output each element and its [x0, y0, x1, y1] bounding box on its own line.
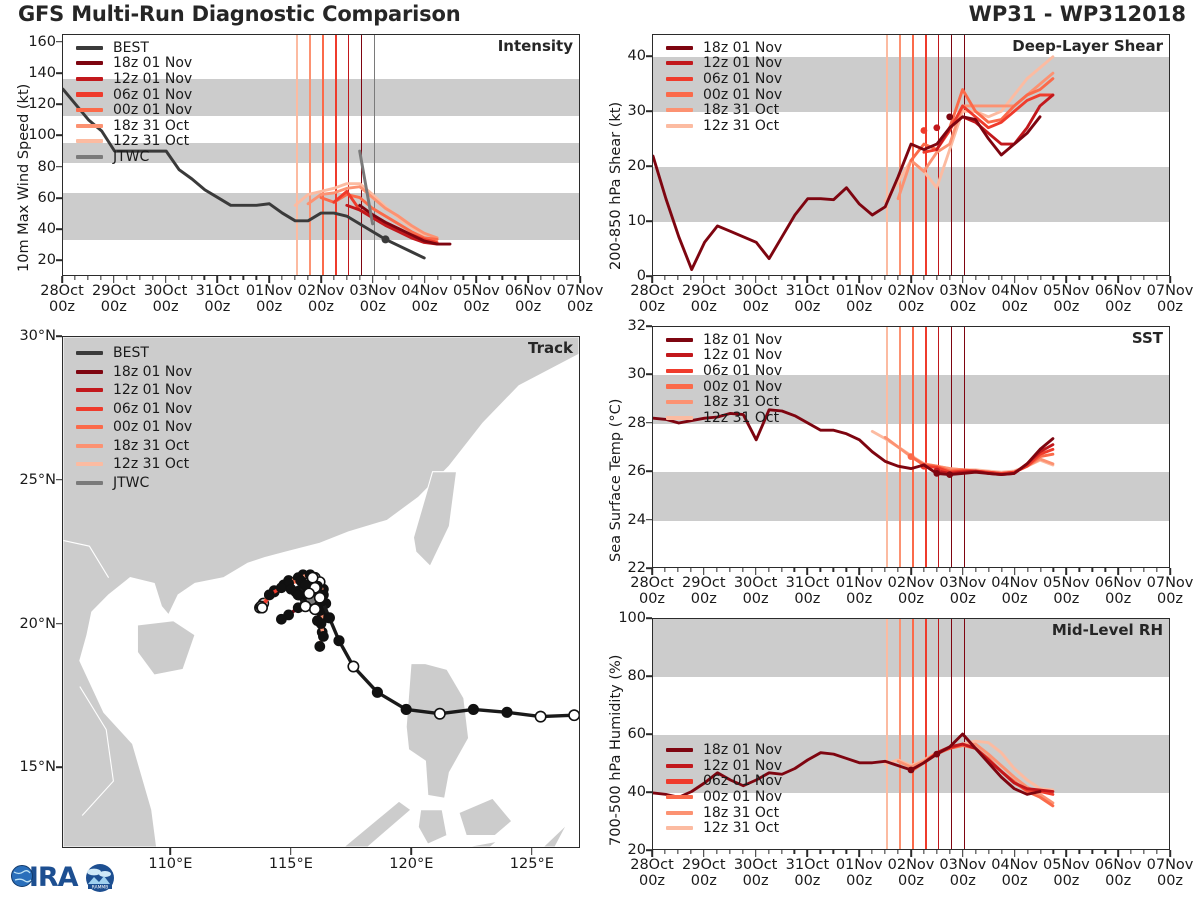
legend-label: 06z 01 Nov	[703, 363, 782, 379]
x-tick-day: 28Oct	[630, 857, 674, 873]
legend-label: 00z 01 Nov	[703, 87, 782, 103]
x-axis-tick-label: 04Nov00z	[991, 858, 1038, 889]
y-axis-tick-mark	[56, 228, 62, 230]
legend-item[interactable]: 12z 31 Oct	[76, 134, 192, 150]
x-axis-tick-label: 04Nov00z	[401, 284, 448, 315]
x-axis-tick-mark	[1169, 568, 1171, 575]
x-tick-hour: 00z	[794, 299, 820, 315]
x-tick-hour: 00z	[360, 299, 386, 315]
legend-label: 06z 01 Nov	[703, 71, 782, 87]
series-line	[653, 117, 1040, 270]
best-track-marker	[382, 235, 390, 243]
x-axis-minor-tick	[677, 276, 678, 280]
x-tick-hour: 00z	[898, 299, 924, 315]
x-tick-hour: 00z	[412, 299, 438, 315]
x-axis-minor-tick	[1130, 850, 1131, 854]
legend-color-swatch	[666, 108, 693, 112]
legend-item[interactable]: 00z 01 Nov	[76, 102, 192, 118]
x-tick-day: 03Nov	[939, 857, 986, 873]
x-axis-tick-label: 06Nov00z	[1095, 284, 1142, 315]
legend-item[interactable]: 18z 01 Nov	[666, 332, 782, 348]
legend-color-swatch	[76, 46, 103, 50]
x-tick-hour: 00z	[639, 299, 665, 315]
x-axis-minor-tick	[1143, 850, 1144, 854]
y-axis-tick-label: 100	[28, 127, 56, 143]
x-axis-minor-tick	[385, 276, 386, 280]
x-tick-day: 01Nov	[836, 857, 883, 873]
legend-item[interactable]: 12z 31 Oct	[76, 455, 192, 474]
x-axis-tick-mark	[1169, 276, 1171, 283]
legend-item[interactable]: 12z 01 Nov	[666, 758, 782, 774]
x-axis-minor-tick	[1156, 276, 1157, 280]
x-axis-tick-mark	[858, 850, 860, 857]
track-point-open	[310, 604, 320, 614]
x-axis-tick-label: 28Oct00z	[630, 858, 674, 889]
legend-item[interactable]: 00z 01 Nov	[666, 789, 782, 805]
x-tick-day: 02Nov	[298, 283, 345, 299]
x-axis-minor-tick	[936, 850, 937, 854]
x-axis-tick-label: 31Oct00z	[786, 858, 830, 889]
x-axis-minor-tick	[1143, 568, 1144, 572]
x-tick-day: 07Nov	[1147, 575, 1194, 591]
x-axis-tick-mark	[268, 276, 270, 283]
legend-item[interactable]: 18z 01 Nov	[76, 363, 192, 382]
legend-color-swatch	[76, 77, 103, 81]
legend-item[interactable]: 12z 01 Nov	[666, 348, 782, 364]
map-lon-tick-mark	[290, 848, 292, 855]
x-tick-day: 04Nov	[991, 575, 1038, 591]
legend-item[interactable]: 06z 01 Nov	[666, 71, 782, 87]
x-axis-minor-tick	[553, 276, 554, 280]
track-legend: BEST18z 01 Nov12z 01 Nov06z 01 Nov00z 01…	[76, 344, 192, 492]
x-tick-day: 06Nov	[505, 283, 552, 299]
x-axis-minor-tick	[191, 276, 192, 280]
x-tick-hour: 00z	[794, 873, 820, 889]
legend-item[interactable]: BEST	[76, 344, 192, 363]
legend-item[interactable]: 18z 31 Oct	[666, 805, 782, 821]
x-tick-day: 29Oct	[682, 857, 726, 873]
x-tick-hour: 00z	[691, 299, 717, 315]
x-axis-tick-label: 30Oct00z	[144, 284, 188, 315]
x-tick-hour: 00z	[1105, 299, 1131, 315]
x-axis-tick-mark	[476, 276, 478, 283]
x-axis-minor-tick	[1027, 276, 1028, 280]
x-axis-minor-tick	[677, 850, 678, 854]
y-axis-tick-mark	[646, 220, 652, 222]
legend-label: 12z 31 Oct	[113, 456, 189, 472]
x-axis-minor-tick	[716, 568, 717, 572]
x-axis-minor-tick	[450, 276, 451, 280]
x-tick-day: 05Nov	[1043, 283, 1090, 299]
x-axis-minor-tick	[846, 568, 847, 572]
x-axis-minor-tick	[333, 276, 334, 280]
map-lon-tick-label: 120°E	[389, 856, 433, 872]
y-axis-tick-label: 160	[28, 34, 56, 50]
x-tick-hour: 00z	[639, 873, 665, 889]
legend-color-swatch	[76, 462, 103, 466]
y-axis-tick-mark	[56, 41, 62, 43]
x-axis-tick-label: 03Nov00z	[939, 284, 986, 315]
x-axis-tick-mark	[807, 276, 809, 283]
intensity-legend: BEST18z 01 Nov12z 01 Nov06z 01 Nov00z 01…	[76, 40, 192, 165]
x-axis-minor-tick	[768, 850, 769, 854]
track-panel-label: Track	[528, 339, 573, 357]
x-tick-day: 06Nov	[1095, 575, 1142, 591]
legend-color-swatch	[666, 369, 693, 373]
x-tick-day: 28Oct	[630, 283, 674, 299]
x-axis-minor-tick	[359, 276, 360, 280]
y-axis-tick-mark	[646, 55, 652, 57]
legend-item[interactable]: 00z 01 Nov	[666, 379, 782, 395]
track-point-filled	[315, 641, 325, 651]
panel-deep-layer-shear: Deep-Layer Shear 01020304028Oct00z29Oct0…	[652, 34, 1170, 276]
x-tick-hour: 00z	[1157, 299, 1183, 315]
x-axis-minor-tick	[346, 276, 347, 280]
legend-color-swatch	[76, 388, 103, 392]
x-axis-minor-tick	[411, 276, 412, 280]
x-axis-minor-tick	[1053, 850, 1054, 854]
x-axis-minor-tick	[884, 568, 885, 572]
legend-color-swatch	[666, 92, 693, 96]
x-axis-minor-tick	[178, 276, 179, 280]
legend-item[interactable]: 12z 01 Nov	[76, 71, 192, 87]
x-tick-day: 02Nov	[888, 857, 935, 873]
legend-label: 12z 01 Nov	[113, 71, 192, 87]
x-tick-day: 03Nov	[939, 575, 986, 591]
legend-label: 18z 31 Oct	[113, 438, 189, 454]
x-axis-minor-tick	[936, 568, 937, 572]
y-axis-tick-label: 22	[628, 560, 646, 576]
x-tick-hour: 00z	[846, 299, 872, 315]
legend-item[interactable]: 18z 31 Oct	[76, 118, 192, 134]
legend-item[interactable]: JTWC	[76, 149, 192, 165]
x-axis-minor-tick	[307, 276, 308, 280]
landmass-mindoro	[418, 810, 447, 844]
legend-item[interactable]: 06z 01 Nov	[76, 400, 192, 419]
x-axis-minor-tick	[1079, 850, 1080, 854]
x-axis-tick-mark	[910, 568, 912, 575]
x-axis-tick-label: 02Nov00z	[888, 284, 935, 315]
x-tick-day: 29Oct	[92, 283, 136, 299]
x-axis-tick-label: 06Nov00z	[1095, 858, 1142, 889]
shear-y-axis-label: 200-850 hPa Shear (kt)	[608, 102, 624, 270]
x-axis-minor-tick	[884, 850, 885, 854]
legend-item[interactable]: 18z 01 Nov	[666, 742, 782, 758]
x-axis-tick-label: 01Nov00z	[836, 576, 883, 607]
x-axis-minor-tick	[794, 850, 795, 854]
x-axis-tick-label: 28Oct00z	[40, 284, 84, 315]
x-tick-hour: 00z	[567, 299, 593, 315]
rh-panel-label: Mid-Level RH	[1052, 621, 1163, 639]
legend-color-swatch	[76, 92, 103, 96]
legend-color-swatch	[666, 826, 693, 830]
x-axis-tick-mark	[703, 276, 705, 283]
x-axis-minor-tick	[502, 276, 503, 280]
legend-item[interactable]: 18z 31 Oct	[666, 394, 782, 410]
legend-color-swatch	[76, 425, 103, 429]
y-axis-tick-mark	[56, 135, 62, 137]
series-marker	[933, 124, 940, 131]
legend-item[interactable]: 18z 01 Nov	[76, 56, 192, 72]
landmass-east	[543, 824, 567, 847]
x-axis-minor-tick	[833, 850, 834, 854]
legend-item[interactable]: 12z 31 Oct	[666, 410, 782, 426]
x-axis-minor-tick	[820, 568, 821, 572]
x-axis-minor-tick	[1001, 276, 1002, 280]
y-axis-tick-mark	[56, 166, 62, 168]
x-axis-minor-tick	[768, 568, 769, 572]
x-tick-hour: 00z	[691, 591, 717, 607]
track-point-filled	[372, 687, 382, 697]
x-axis-minor-tick	[463, 276, 464, 280]
x-axis-minor-tick	[540, 276, 541, 280]
y-axis-tick-label: 30	[628, 103, 646, 119]
x-axis-tick-mark	[910, 850, 912, 857]
x-axis-minor-tick	[923, 568, 924, 572]
legend-item[interactable]: 06z 01 Nov	[666, 363, 782, 379]
landmass-samar	[466, 841, 497, 847]
track-point-filled	[334, 636, 344, 646]
sst-y-axis-label: Sea Surface Temp (°C)	[608, 399, 624, 562]
x-axis-minor-tick	[794, 568, 795, 572]
x-axis-tick-mark	[807, 568, 809, 575]
x-axis-minor-tick	[1027, 850, 1028, 854]
legend-item[interactable]: BEST	[76, 40, 192, 56]
x-tick-hour: 00z	[950, 299, 976, 315]
legend-item[interactable]: 18z 01 Nov	[666, 40, 782, 56]
legend-color-swatch	[666, 400, 693, 404]
y-axis-tick-mark	[646, 791, 652, 793]
x-axis-minor-tick	[1040, 276, 1041, 280]
legend-color-swatch	[76, 481, 103, 485]
x-axis-minor-tick	[820, 850, 821, 854]
panel-sst: SST 22242628303228Oct00z29Oct00z30Oct00z…	[652, 326, 1170, 568]
x-tick-hour: 00z	[153, 299, 179, 315]
x-tick-hour: 00z	[515, 299, 541, 315]
x-axis-tick-mark	[858, 568, 860, 575]
y-axis-tick-mark	[56, 72, 62, 74]
x-axis-tick-mark	[807, 850, 809, 857]
y-axis-tick-mark	[646, 675, 652, 677]
legend-item[interactable]: 18z 31 Oct	[76, 437, 192, 456]
x-tick-hour: 00z	[1053, 591, 1079, 607]
y-axis-tick-mark	[646, 374, 652, 376]
x-axis-minor-tick	[729, 568, 730, 572]
x-axis-minor-tick	[1105, 568, 1106, 572]
x-axis-minor-tick	[87, 276, 88, 280]
x-axis-tick-label: 29Oct00z	[682, 858, 726, 889]
x-axis-tick-mark	[1066, 568, 1068, 575]
legend-label: JTWC	[113, 149, 149, 165]
x-axis-minor-tick	[100, 276, 101, 280]
x-tick-hour: 00z	[950, 873, 976, 889]
x-axis-minor-tick	[884, 276, 885, 280]
rh-y-axis-label: 700-500 hPa Humidity (%)	[608, 655, 624, 846]
x-axis-minor-tick	[988, 850, 989, 854]
track-point-filled	[401, 704, 411, 714]
x-tick-hour: 00z	[1002, 299, 1028, 315]
track-point-filled	[264, 590, 274, 600]
legend-label: 18z 01 Nov	[703, 332, 782, 348]
legend-label: 00z 01 Nov	[113, 419, 192, 435]
legend-item[interactable]: 12z 31 Oct	[666, 118, 782, 134]
x-tick-day: 04Nov	[991, 283, 1038, 299]
legend-label: 12z 01 Nov	[703, 55, 782, 71]
x-axis-minor-tick	[690, 568, 691, 572]
x-axis-minor-tick	[566, 276, 567, 280]
x-axis-minor-tick	[1001, 850, 1002, 854]
x-tick-hour: 00z	[950, 591, 976, 607]
x-axis-minor-tick	[742, 850, 743, 854]
series-marker	[908, 767, 915, 774]
x-axis-tick-label: 28Oct00z	[630, 576, 674, 607]
x-axis-minor-tick	[729, 276, 730, 280]
x-axis-tick-label: 06Nov00z	[1095, 576, 1142, 607]
y-axis-tick-label: 30	[628, 366, 646, 382]
landmass-palawan	[344, 801, 411, 847]
track-point-open	[348, 661, 358, 671]
map-lon-tick-mark	[411, 848, 413, 855]
x-axis-tick-label: 05Nov00z	[1043, 858, 1090, 889]
y-axis-tick-label: 24	[628, 512, 646, 528]
x-axis-tick-label: 01Nov00z	[836, 858, 883, 889]
x-axis-tick-mark	[1014, 850, 1016, 857]
landmass-luzon	[406, 664, 468, 799]
x-axis-minor-tick	[846, 850, 847, 854]
x-axis-tick-mark	[651, 850, 653, 857]
legend-item[interactable]: 06z 01 Nov	[76, 87, 192, 103]
x-axis-minor-tick	[1040, 568, 1041, 572]
x-axis-minor-tick	[1092, 568, 1093, 572]
track-point-filled	[312, 616, 322, 626]
legend-label: 18z 01 Nov	[703, 742, 782, 758]
x-axis-minor-tick	[768, 276, 769, 280]
track-point-open	[535, 711, 545, 721]
y-axis-tick-label: 10	[628, 213, 646, 229]
x-axis-minor-tick	[871, 276, 872, 280]
x-axis-minor-tick	[975, 276, 976, 280]
legend-label: 18z 31 Oct	[703, 102, 779, 118]
x-tick-hour: 00z	[898, 591, 924, 607]
intensity-panel-label: Intensity	[498, 37, 573, 55]
y-axis-tick-label: 80	[628, 668, 646, 684]
legend-label: BEST	[113, 40, 149, 56]
x-axis-tick-mark	[1117, 276, 1119, 283]
legend-color-swatch	[666, 124, 693, 128]
x-axis-minor-tick	[1130, 276, 1131, 280]
x-axis-minor-tick	[781, 276, 782, 280]
x-axis-tick-label: 04Nov00z	[991, 284, 1038, 315]
legend-item[interactable]: 00z 01 Nov	[76, 418, 192, 437]
x-tick-hour: 00z	[846, 873, 872, 889]
x-tick-hour: 00z	[1105, 591, 1131, 607]
x-axis-minor-tick	[256, 276, 257, 280]
x-tick-hour: 00z	[1157, 873, 1183, 889]
x-axis-tick-label: 04Nov00z	[991, 576, 1038, 607]
x-tick-hour: 00z	[743, 873, 769, 889]
x-tick-hour: 00z	[308, 299, 334, 315]
x-tick-day: 02Nov	[888, 575, 935, 591]
x-axis-minor-tick	[677, 568, 678, 572]
x-tick-hour: 00z	[743, 591, 769, 607]
legend-item[interactable]: 12z 31 Oct	[666, 820, 782, 836]
x-axis-tick-mark	[755, 276, 757, 283]
shear-legend: 18z 01 Nov12z 01 Nov06z 01 Nov00z 01 Nov…	[666, 40, 782, 134]
x-tick-day: 28Oct	[630, 575, 674, 591]
x-axis-minor-tick	[437, 276, 438, 280]
track-point-filled	[468, 704, 478, 714]
legend-item[interactable]: 12z 01 Nov	[76, 381, 192, 400]
x-axis-minor-tick	[1156, 850, 1157, 854]
legend-label: 12z 01 Nov	[703, 347, 782, 363]
x-axis-tick-label: 01Nov00z	[246, 284, 293, 315]
x-axis-tick-mark	[651, 568, 653, 575]
x-axis-minor-tick	[1053, 568, 1054, 572]
map-lat-tick-mark	[56, 335, 62, 337]
x-tick-hour: 00z	[846, 591, 872, 607]
y-axis-tick-mark	[646, 617, 652, 619]
sst-panel-label: SST	[1132, 329, 1163, 347]
legend-item[interactable]: JTWC	[76, 474, 192, 493]
x-tick-hour: 00z	[743, 299, 769, 315]
y-axis-tick-label: 140	[28, 65, 56, 81]
x-axis-minor-tick	[243, 276, 244, 280]
panel-intensity: Intensity 2040608010012014016028Oct00z29…	[62, 34, 580, 276]
track-point-open	[257, 603, 267, 613]
x-axis-minor-tick	[398, 276, 399, 280]
x-axis-minor-tick	[871, 850, 872, 854]
x-axis-minor-tick	[781, 850, 782, 854]
x-tick-hour: 00z	[256, 299, 282, 315]
landmass-hainan	[137, 621, 195, 675]
x-axis-minor-tick	[846, 276, 847, 280]
legend-item[interactable]: 06z 01 Nov	[666, 774, 782, 790]
y-axis-tick-label: 28	[628, 415, 646, 431]
map-lat-tick-label: 30°N	[19, 328, 56, 344]
sst-legend: 18z 01 Nov12z 01 Nov06z 01 Nov00z 01 Nov…	[666, 332, 782, 426]
legend-color-swatch	[666, 764, 693, 768]
x-axis-minor-tick	[281, 276, 282, 280]
x-tick-day: 28Oct	[40, 283, 84, 299]
legend-item[interactable]: 00z 01 Nov	[666, 87, 782, 103]
page-title: GFS Multi-Run Diagnostic Comparison	[18, 2, 460, 26]
legend-item[interactable]: 18z 31 Oct	[666, 102, 782, 118]
legend-label: 18z 01 Nov	[113, 364, 192, 380]
x-axis-tick-mark	[1169, 850, 1171, 857]
series-marker	[933, 470, 940, 477]
track-point-filled	[324, 613, 334, 623]
x-axis-minor-tick	[833, 568, 834, 572]
legend-item[interactable]: 12z 01 Nov	[666, 56, 782, 72]
x-axis-tick-label: 29Oct00z	[682, 284, 726, 315]
x-axis-tick-mark	[651, 276, 653, 283]
legend-label: 18z 31 Oct	[703, 394, 779, 410]
x-tick-day: 05Nov	[453, 283, 500, 299]
rh-legend: 18z 01 Nov12z 01 Nov06z 01 Nov00z 01 Nov…	[666, 742, 782, 836]
y-axis-tick-label: 26	[628, 463, 646, 479]
y-axis-tick-mark	[646, 733, 652, 735]
y-axis-tick-mark	[646, 325, 652, 327]
x-axis-minor-tick	[126, 276, 127, 280]
x-axis-minor-tick	[690, 850, 691, 854]
x-axis-tick-label: 07Nov00z	[1147, 284, 1194, 315]
series-marker	[946, 113, 953, 120]
legend-label: 06z 01 Nov	[703, 773, 782, 789]
y-axis-tick-label: 20	[628, 842, 646, 858]
panel-track-map[interactable]: Track 30°N25°N20°N15°N110°E115°E120°E125…	[62, 336, 580, 848]
x-tick-day: 06Nov	[1095, 857, 1142, 873]
legend-color-swatch	[666, 46, 693, 50]
